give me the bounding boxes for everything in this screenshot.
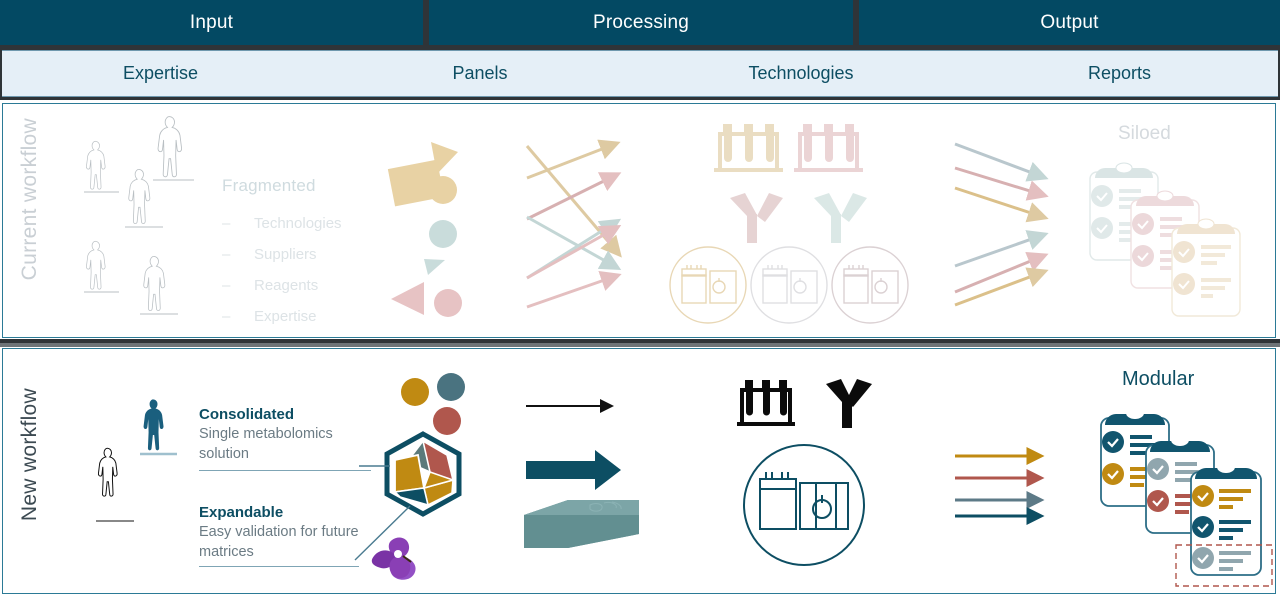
subheader-cell-technologies: Technologies [641,51,961,96]
list-item: – Technologies [222,208,382,239]
subheader-label-technologies: Technologies [748,63,853,84]
subheader-label-expertise: Expertise [123,63,198,84]
workflow-row-divider [0,339,1280,347]
feature-expandable: Expandable Easy validation for future ma… [199,503,371,562]
header-cell-input: Input [0,0,423,45]
feature-heading: Expandable [199,503,371,522]
fragmented-title: Fragmented [222,176,316,196]
workflow-diagram: Input Processing Output Expertise Panels… [0,0,1280,596]
feature-underline [199,566,359,567]
feature-body: Easy validation for future matrices [199,522,371,562]
current-workflow-panel [2,103,1276,338]
subheader-label-reports: Reports [1088,63,1151,84]
subheader-cell-panels: Panels [319,51,641,96]
subheader-label-panels: Panels [452,63,507,84]
stage-header-band: Input Processing Output [0,0,1280,45]
modular-label: Modular [1122,368,1194,391]
subheader-cell-reports: Reports [961,51,1278,96]
list-item-label: Technologies [254,215,342,232]
bullet-dash: – [222,277,254,294]
stage-subheader-band: Expertise Panels Technologies Reports [0,45,1280,100]
feature-body: Single metabolomics solution [199,424,371,464]
header-label-input: Input [190,12,233,34]
list-item: – Suppliers [222,239,382,270]
bullet-dash: – [222,215,254,232]
feature-underline [199,470,371,471]
header-label-processing: Processing [593,12,689,34]
list-item-label: Suppliers [254,246,317,263]
subheader-cell-expertise: Expertise [2,51,319,96]
list-item-label: Reagents [254,277,318,294]
new-workflow-panel [2,348,1276,594]
list-item: – Expertise [222,301,382,332]
row-label-new-workflow: New workflow [18,388,42,521]
bullet-dash: – [222,246,254,263]
header-label-output: Output [1040,12,1098,34]
siloed-label: Siloed [1118,123,1171,145]
header-cell-output: Output [859,0,1280,45]
feature-heading: Consolidated [199,405,371,424]
feature-consolidated: Consolidated Single metabolomics solutio… [199,405,371,464]
bullet-dash: – [222,308,254,325]
header-cell-processing: Processing [429,0,853,45]
fragmented-list: – Technologies – Suppliers – Reagents – … [222,208,382,332]
row-label-current-workflow: Current workflow [18,118,42,280]
list-item: – Reagents [222,270,382,301]
list-item-label: Expertise [254,308,317,325]
